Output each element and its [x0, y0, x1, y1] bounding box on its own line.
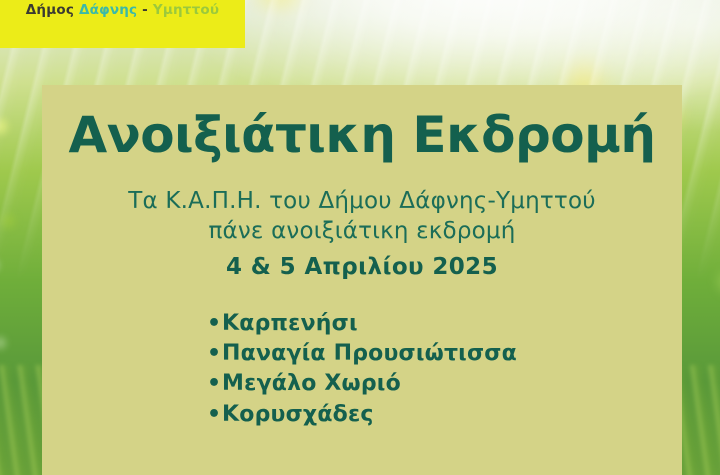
destination-label: Παναγία Προυσιώτισσα	[222, 339, 517, 369]
list-item: • Καρπενήσι	[207, 309, 517, 339]
event-date: 4 & 5 Απριλίου 2025	[60, 247, 664, 283]
list-item: • Παναγία Προυσιώτισσα	[207, 339, 517, 369]
municipality-logo-badge: Δήμος Δάφνης - Υμηττού	[0, 0, 245, 48]
logo-word-ymittou: Υμηττού	[153, 2, 219, 18]
bullet-icon: •	[207, 343, 222, 365]
page-title: Ανοιξιάτικη Εκδρομή	[60, 85, 664, 162]
bullet-icon: •	[207, 404, 222, 426]
list-item: • Μεγάλο Χωριό	[207, 369, 517, 399]
municipality-logo-text: Δήμος Δάφνης - Υμηττού	[26, 1, 219, 19]
destination-label: Μεγάλο Χωριό	[222, 369, 401, 399]
bullet-icon: •	[207, 313, 222, 335]
poster: Δήμος Δάφνης - Υμηττού Ανοιξιάτικη Εκδρο…	[0, 0, 720, 475]
bullet-icon: •	[207, 373, 222, 395]
destination-list: • Καρπενήσι • Παναγία Προυσιώτισσα • Μεγ…	[207, 283, 517, 430]
list-item: • Κορυσχάδες	[207, 400, 517, 430]
destination-label: Καρπενήσι	[222, 309, 358, 339]
logo-word-dimos: Δήμος	[26, 2, 74, 18]
logo-word-dafnis: Δάφνης	[79, 2, 137, 18]
subtitle: Τα Κ.Α.Π.Η. του Δήμου Δάφνης-Υμηττού πάν…	[60, 162, 664, 247]
destination-label: Κορυσχάδες	[222, 400, 374, 430]
subtitle-line-2: πάνε ανοιξιάτικη εκδρομή	[60, 216, 664, 246]
content-card: Ανοιξιάτικη Εκδρομή Τα Κ.Α.Π.Η. του Δήμο…	[42, 85, 682, 475]
subtitle-line-1: Τα Κ.Α.Π.Η. του Δήμου Δάφνης-Υμηττού	[60, 186, 664, 216]
logo-separator: -	[137, 2, 153, 18]
